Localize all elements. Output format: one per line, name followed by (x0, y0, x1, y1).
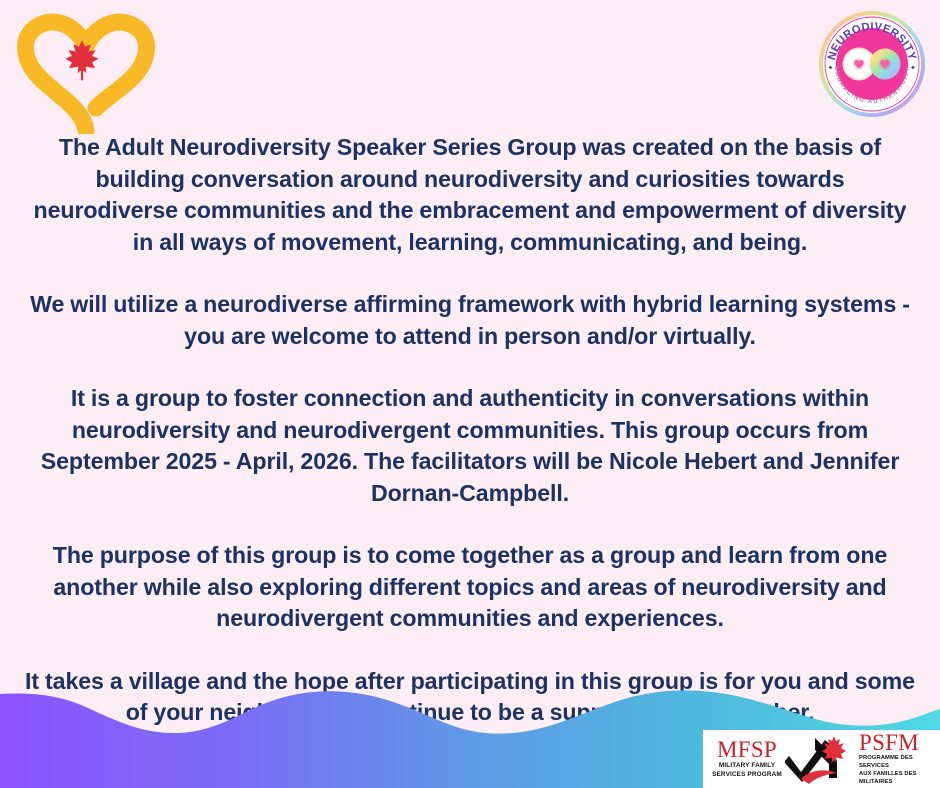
poster-body-copy: The Adult Neurodiversity Speaker Series … (0, 132, 940, 729)
mfsp-english-block: MFSP MILITARY FAMILY SERVICES PROGRAM (709, 739, 785, 779)
mfsp-checkmark-house-icon (785, 734, 857, 784)
paragraph-schedule: It is a group to foster connection and a… (22, 383, 918, 509)
mfsp-english-line2: SERVICES PROGRAM (709, 771, 785, 779)
heart-outline-path (25, 22, 146, 130)
psfm-french-line1: PROGRAMME DES SERVICES (859, 755, 936, 770)
neurodiversity-badge-logo: ✦ ✦ NEURODIVERSITY EMBRACING AUTHENTICIT… (818, 10, 926, 118)
mfsp-english-line1: MILITARY FAMILY (709, 762, 785, 770)
paragraph-purpose: The purpose of this group is to come tog… (22, 540, 918, 635)
poster-canvas: ✦ ✦ NEURODIVERSITY EMBRACING AUTHENTICIT… (0, 0, 940, 788)
mfsp-acronym: MFSP (709, 739, 785, 761)
mfsp-psfm-logo: MFSP MILITARY FAMILY SERVICES PROGRAM PS… (703, 730, 940, 788)
mfsp-french-block: PSFM PROGRAMME DES SERVICES AUX FAMILLES… (857, 732, 936, 786)
psfm-french-line2: AUX FAMILLES DES MILITAIRES (859, 771, 936, 786)
paragraph-framework: We will utilize a neurodiverse affirming… (22, 289, 918, 352)
sparkle-left-icon: ✦ (828, 64, 834, 72)
donut-rainbow-icon (870, 49, 901, 80)
canadian-heart-logo (12, 12, 160, 134)
psfm-acronym: PSFM (859, 732, 936, 754)
paragraph-intro: The Adult Neurodiversity Speaker Series … (22, 132, 918, 258)
